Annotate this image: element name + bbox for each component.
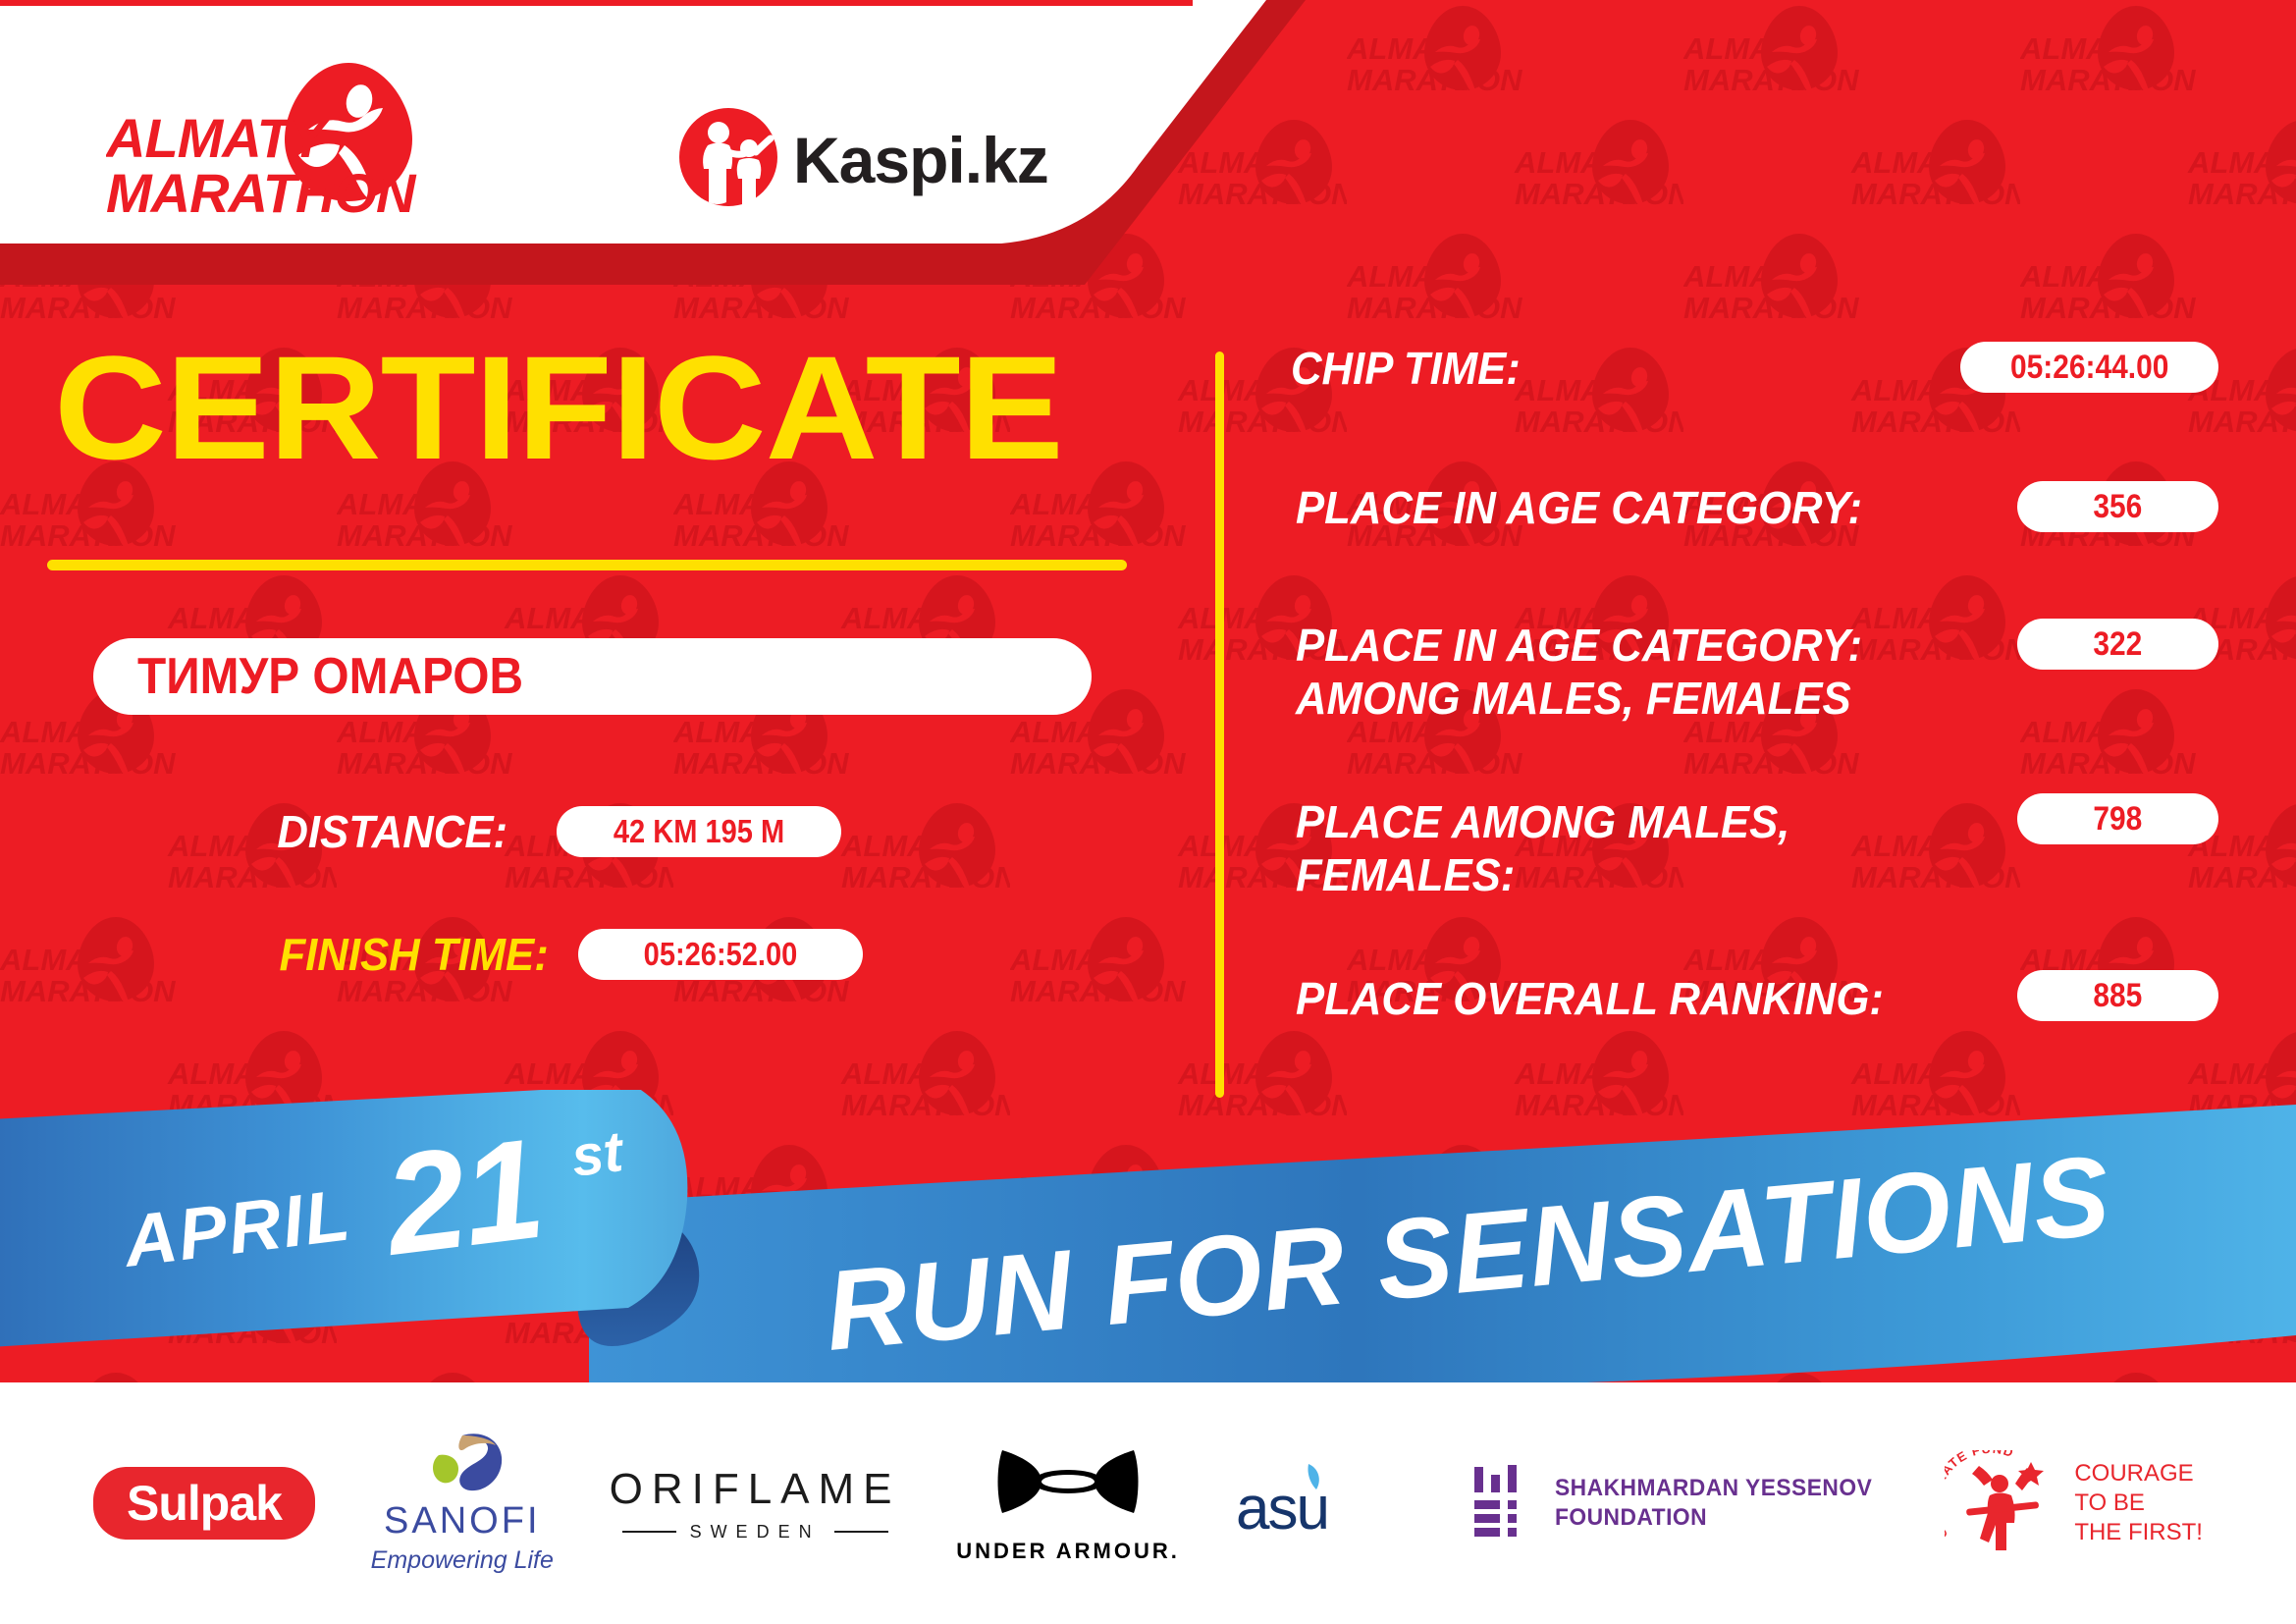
oriflame-tagline: SWEDEN [690,1522,821,1543]
finish-time-label: FINISH TIME: [279,928,548,981]
chip-time-value-pill: 05:26:44.00 [1960,342,2218,393]
oriflame-rule-left [622,1531,676,1533]
oriflame-label: ORIFLAME [610,1465,901,1514]
oriflame-rule-right [834,1531,888,1533]
courage-label: COURAGE TO BE THE FIRST! [2074,1459,2203,1547]
courage-label-line1: COURAGE [2074,1460,2193,1487]
distance-value-pill: 42 KM 195 M [557,806,841,857]
almaty-marathon-logo: ALMATY MARATHON [106,59,445,221]
yessenov-mark-icon [1472,1465,1533,1542]
sanofi-label: SANOFI [384,1500,540,1543]
yessenov-label-line2: FOUNDATION [1555,1504,1707,1531]
place-age-category-among-value-pill: 322 [2017,619,2218,670]
sponsor-sanofi: SANOFI Empowering Life [371,1432,554,1575]
under-armour-mark-icon [994,1442,1142,1531]
place-among-males-females-value-pill: 798 [2017,793,2218,844]
vertical-divider [1215,352,1224,1098]
distance-value: 42 KM 195 M [614,813,784,850]
sponsor-bar: Sulpak SANOFI Empowering Life ORIFLAME S… [0,1382,2296,1624]
sanofi-mark-icon [417,1432,507,1498]
kaspi-people-circle-icon [679,108,777,206]
sulpak-pill: Sulpak [93,1467,315,1540]
sponsor-asu: asu [1236,1458,1417,1548]
kaspi-wordmark: Kaspi.kz [793,124,1048,196]
sponsor-courage-to-be-the-first: CORPORATE FUND COURAGE TO BE THE FIRST! [1945,1450,2203,1556]
sponsor-oriflame: ORIFLAME SWEDEN [610,1465,901,1543]
sanofi-tagline: Empowering Life [371,1546,554,1575]
marathon-wordmark: MARATHON [106,162,417,221]
distance-row: DISTANCE: 42 KM 195 M [265,805,841,858]
page-title: CERTIFICATE [54,334,1063,481]
sponsor-yessenov-foundation: SHAKHMARDAN YESSENOV FOUNDATION [1472,1465,1889,1542]
place-among-males-females-label: PLACE AMONG MALES, FEMALES: [1296,795,1789,901]
place-age-category-label: PLACE IN AGE CATEGORY: [1296,481,1862,534]
event-ribbon: APRIL 21 st RUN FOR SENSATIONS [0,1090,2296,1414]
finish-time-row: FINISH TIME: 05:26:52.00 [265,928,863,981]
courage-label-line2: TO BE [2074,1489,2145,1516]
oriflame-sub: SWEDEN [610,1522,901,1543]
ribbon-day: 21 [374,1109,550,1285]
chip-time-label: CHIP TIME: [1291,342,1521,395]
finish-time-value-pill: 05:26:52.00 [578,929,863,980]
participant-name-value: ТИМУР ОМАРОВ [137,647,523,706]
place-overall-value-pill: 885 [2017,970,2218,1021]
chip-time-value: 05:26:44.00 [2010,349,2168,387]
sulpak-label: Sulpak [127,1476,282,1531]
courage-mark-icon: CORPORATE FUND [1945,1450,2060,1556]
place-age-category-among-label: PLACE IN AGE CATEGORY: AMONG MALES, FEMA… [1296,619,1862,725]
yessenov-label-line1: SHAKHMARDAN YESSENOV [1555,1475,1872,1501]
place-age-category-among-value: 322 [2094,625,2143,664]
distance-label: DISTANCE: [277,805,507,858]
place-age-category-value: 356 [2094,488,2143,526]
kaspi-kz-logo: Kaspi.kz [677,106,1070,209]
under-armour-label: UNDER ARMOUR. [956,1539,1180,1564]
place-overall-label: PLACE OVERALL RANKING: [1296,972,1884,1025]
finish-time-value: 05:26:52.00 [643,936,797,973]
certificate-page: ALMATY MARATHON Kaspi.kz CERTIFICATE [0,0,2296,1624]
place-among-males-females-value: 798 [2094,800,2143,839]
sponsor-sulpak: Sulpak [93,1467,315,1540]
sponsor-under-armour: UNDER ARMOUR. [956,1442,1180,1564]
place-overall-value: 885 [2094,977,2143,1015]
courage-label-line3: THE FIRST! [2074,1519,2203,1545]
title-underline-rule [47,560,1127,570]
yessenov-label: SHAKHMARDAN YESSENOV FOUNDATION [1555,1474,1872,1533]
almaty-wordmark: ALMATY [106,107,331,169]
place-age-category-value-pill: 356 [2017,481,2218,532]
participant-name-field[interactable]: ТИМУР ОМАРОВ [93,638,1092,715]
